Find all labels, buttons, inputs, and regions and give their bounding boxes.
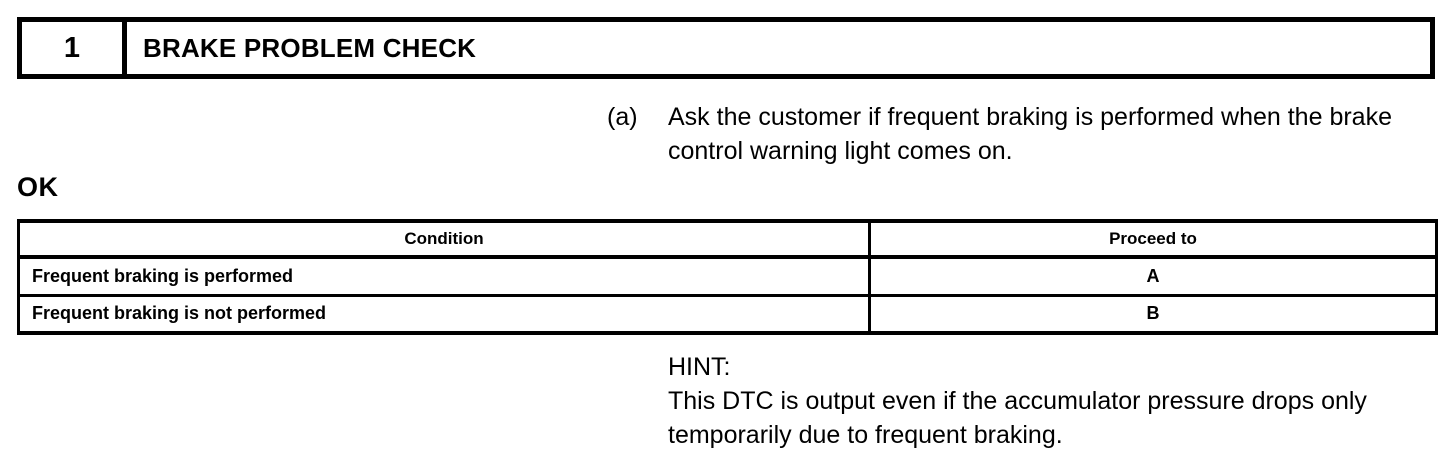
table-row: Frequent braking is performed A — [19, 257, 1437, 295]
cell-condition: Frequent braking is not performed — [19, 295, 870, 333]
step-title: BRAKE PROBLEM CHECK — [143, 35, 476, 61]
procedure-text: Ask the customer if frequent braking is … — [668, 100, 1437, 168]
hint-body: This DTC is output even if the accumulat… — [668, 384, 1448, 452]
ok-label: OK — [17, 174, 59, 201]
cell-proceed-to: B — [870, 295, 1437, 333]
column-header-proceed-to: Proceed to — [870, 221, 1437, 257]
hint-block: HINT: This DTC is output even if the acc… — [668, 350, 1448, 452]
step-title-cell: BRAKE PROBLEM CHECK — [127, 22, 1430, 74]
procedure-marker: (a) — [607, 100, 668, 134]
result-table: Condition Proceed to Frequent braking is… — [17, 219, 1438, 335]
table-header-row: Condition Proceed to — [19, 221, 1437, 257]
hint-heading: HINT: — [668, 350, 1448, 384]
cell-condition: Frequent braking is performed — [19, 257, 870, 295]
cell-proceed-to: A — [870, 257, 1437, 295]
step-number-cell: 1 — [22, 22, 127, 74]
step-header-box: 1 BRAKE PROBLEM CHECK — [17, 17, 1435, 79]
step-number: 1 — [64, 34, 80, 63]
table-row: Frequent braking is not performed B — [19, 295, 1437, 333]
procedure-item: (a) Ask the customer if frequent braking… — [607, 100, 1437, 168]
column-header-condition: Condition — [19, 221, 870, 257]
